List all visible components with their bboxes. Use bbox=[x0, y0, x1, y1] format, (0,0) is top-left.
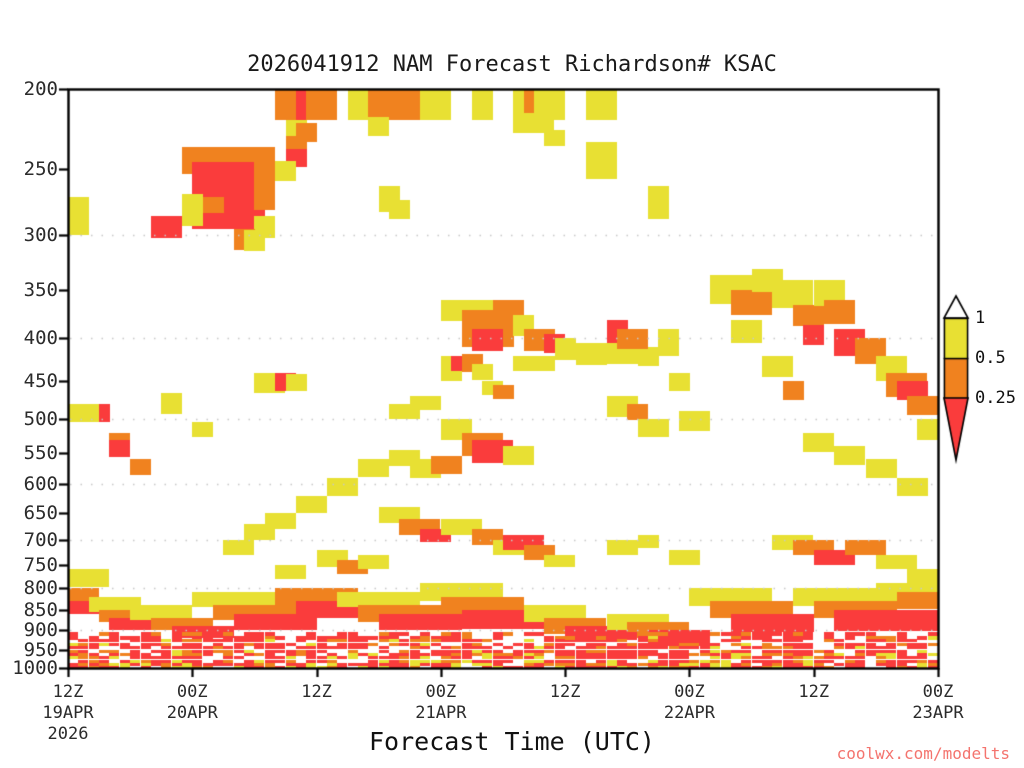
x-tick-1: 00Z20APR bbox=[167, 682, 218, 724]
y-tick-850: 850 bbox=[24, 599, 58, 621]
x-tick-date: 23APR bbox=[912, 703, 963, 724]
x-tick-date: 21APR bbox=[415, 703, 466, 724]
x-tick-date: 19APR bbox=[42, 703, 93, 724]
x-tick-time: 00Z bbox=[167, 682, 218, 703]
x-tick-date: 20APR bbox=[167, 703, 218, 724]
y-tick-650: 650 bbox=[24, 502, 58, 524]
y-axis-tick-labels: 2002503003504004505005506006507007508008… bbox=[0, 0, 58, 768]
chart-root: 2026041912 NAM Forecast Richardson# KSAC… bbox=[0, 0, 1024, 768]
y-tick-350: 350 bbox=[24, 279, 58, 301]
y-tick-500: 500 bbox=[24, 408, 58, 430]
x-tick-time: 00Z bbox=[415, 682, 466, 703]
x-tick-time: 12Z bbox=[42, 682, 93, 703]
x-tick-time: 00Z bbox=[912, 682, 963, 703]
x-tick-2: 12Z bbox=[301, 682, 332, 703]
y-tick-750: 750 bbox=[24, 554, 58, 576]
meteogram-heatmap-canvas[interactable] bbox=[0, 0, 1024, 768]
x-tick-3: 00Z21APR bbox=[415, 682, 466, 724]
y-tick-250: 250 bbox=[24, 158, 58, 180]
y-tick-800: 800 bbox=[24, 577, 58, 599]
chart-title: 2026041912 NAM Forecast Richardson# KSAC bbox=[0, 52, 1024, 77]
watermark-coolwx: coolwx.com/modelts bbox=[837, 744, 1010, 763]
x-tick-time: 00Z bbox=[664, 682, 715, 703]
y-tick-400: 400 bbox=[24, 327, 58, 349]
y-tick-450: 450 bbox=[24, 370, 58, 392]
x-tick-time: 12Z bbox=[550, 682, 581, 703]
y-tick-550: 550 bbox=[24, 442, 58, 464]
y-tick-700: 700 bbox=[24, 529, 58, 551]
x-tick-time: 12Z bbox=[798, 682, 829, 703]
y-tick-1000: 1000 bbox=[12, 657, 58, 679]
y-tick-600: 600 bbox=[24, 473, 58, 495]
colorbar-label-0p5: 0.5 bbox=[975, 348, 1006, 368]
x-tick-date: 22APR bbox=[664, 703, 715, 724]
y-tick-300: 300 bbox=[24, 224, 58, 246]
x-tick-5: 00Z22APR bbox=[664, 682, 715, 724]
x-tick-6: 12Z bbox=[798, 682, 829, 703]
colorbar-label-0p25: 0.25 bbox=[975, 388, 1016, 408]
x-tick-7: 00Z23APR bbox=[912, 682, 963, 724]
x-tick-time: 12Z bbox=[301, 682, 332, 703]
colorbar-label-1: 1 bbox=[975, 308, 985, 328]
x-tick-4: 12Z bbox=[550, 682, 581, 703]
y-tick-200: 200 bbox=[24, 78, 58, 100]
